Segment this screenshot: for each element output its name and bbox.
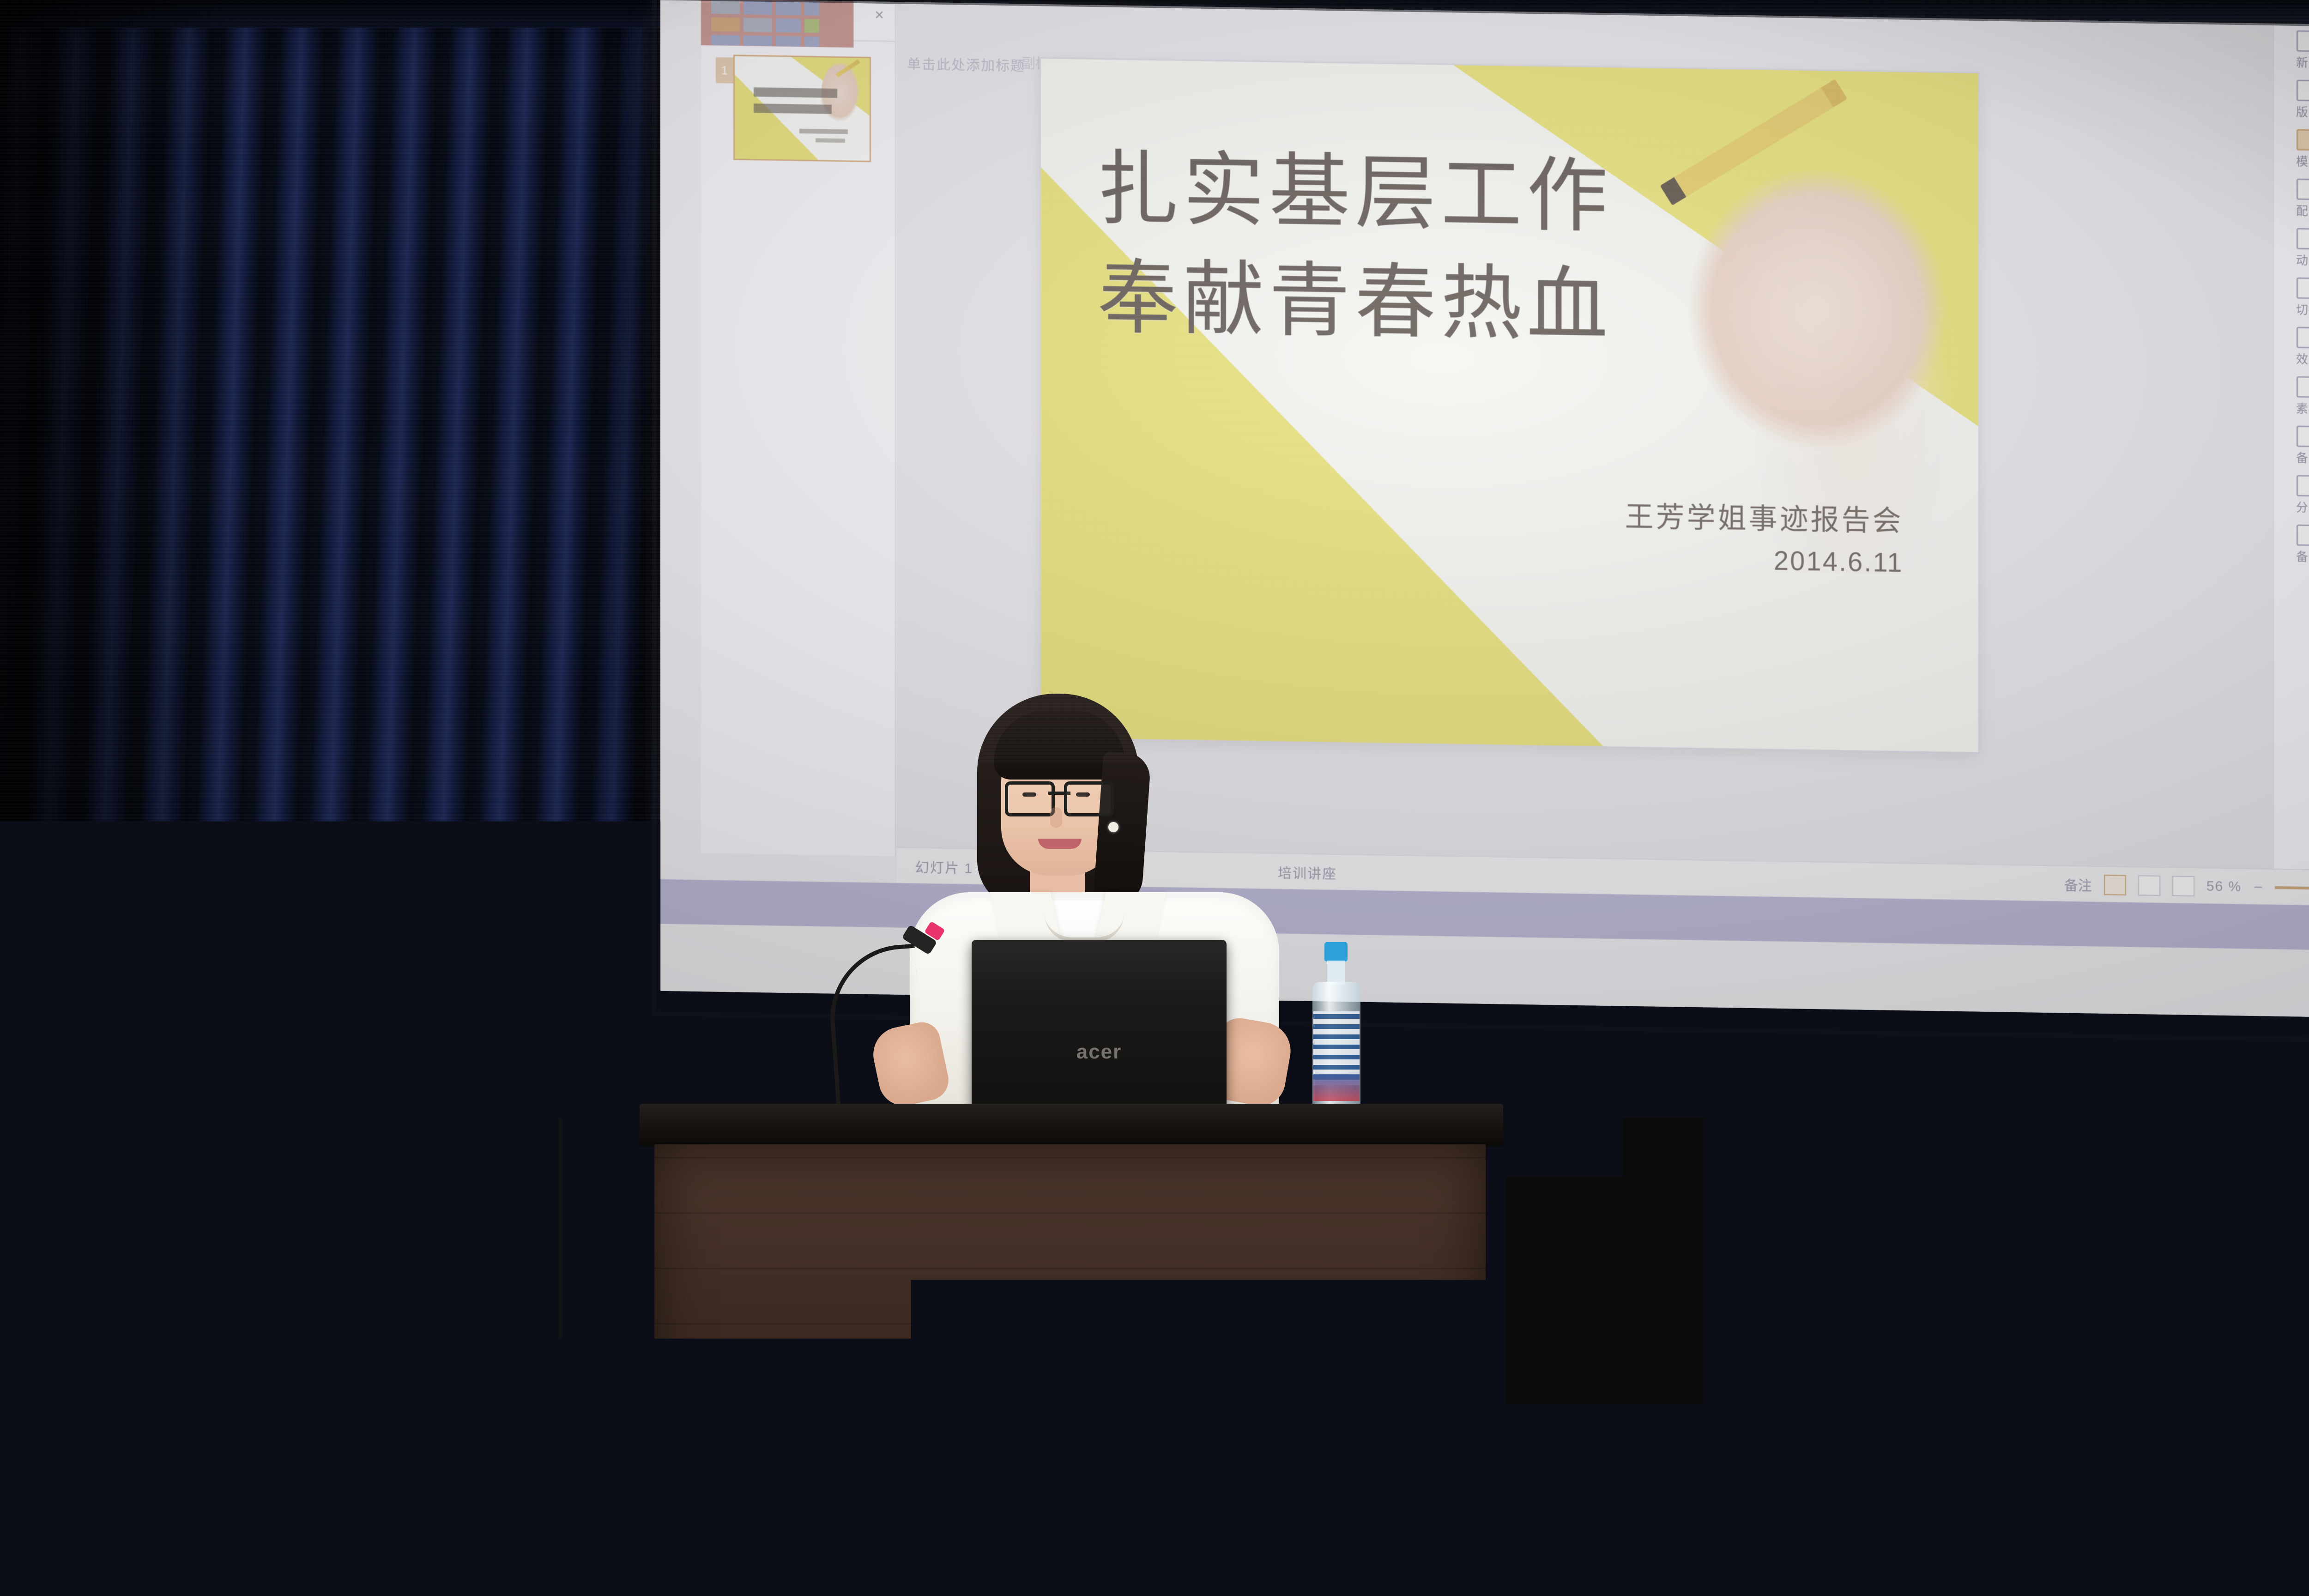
- backup-icon: [2297, 525, 2309, 546]
- rail-item-backup[interactable]: 备份: [2274, 524, 2309, 565]
- rail-label-material: 素材: [2296, 399, 2309, 417]
- status-right-group[interactable]: 备注 56 % − +: [2064, 874, 2309, 903]
- slide-subtitle: 王芳学姐事迹报告会: [1625, 496, 1904, 543]
- rail-label-new: 新建: [2296, 54, 2309, 71]
- pearl-earring: [1108, 822, 1118, 832]
- thumb-subtitle-line: [799, 129, 848, 134]
- rail-item-template[interactable]: 模板: [2274, 129, 2309, 170]
- presenter-side-hair: [1093, 751, 1152, 907]
- start-tile[interactable]: [743, 36, 772, 48]
- slide-title-line-1: 扎实基层工作: [1097, 134, 1885, 256]
- rail-label-colorscheme: 配色: [2296, 202, 2309, 219]
- layout-icon: [2297, 80, 2309, 102]
- view-sorter-button[interactable]: [2138, 875, 2160, 896]
- audience-member-scalp: [231, 1524, 383, 1596]
- share-icon: [2297, 475, 2309, 497]
- close-panel-icon[interactable]: ×: [875, 6, 884, 24]
- canvas-placeholder-hint: 单击此处添加标题: [907, 53, 1025, 75]
- rail-item-share[interactable]: 分享: [2274, 475, 2309, 516]
- start-tile[interactable]: [804, 19, 819, 33]
- color-scheme-icon: [2297, 179, 2309, 200]
- template-icon: [2297, 129, 2309, 151]
- rail-item-transition[interactable]: 切换: [2274, 277, 2309, 318]
- start-menu-panel[interactable]: 开始: [701, 0, 853, 48]
- lens-left: [1005, 781, 1055, 816]
- task-pane[interactable]: 新建 版式 模板 配色: [2273, 24, 2309, 875]
- new-slide-icon: [2297, 30, 2309, 52]
- slide-subtitle-block: 王芳学姐事迹报告会 2014.6.11: [1625, 496, 1904, 583]
- laptop-brand-logo: acer: [972, 1040, 1227, 1064]
- start-tile[interactable]: [743, 0, 772, 15]
- rail-label-animation: 动画: [2296, 251, 2309, 269]
- loudspeaker: [1681, 1335, 1903, 1596]
- view-slideshow-button[interactable]: [2172, 876, 2194, 896]
- bottled-water: [1311, 942, 1361, 1121]
- rail-label-effects: 效果: [2296, 350, 2309, 368]
- material-icon: [2297, 376, 2309, 398]
- transition-icon: [2297, 278, 2309, 299]
- thumb-title-line-2: [754, 103, 832, 114]
- presenter-mouth: [1038, 839, 1082, 849]
- start-tile[interactable]: [711, 18, 740, 32]
- effects-icon: [2297, 327, 2309, 349]
- thumb-title-line-1: [754, 87, 837, 98]
- bottle-label-lower: [1313, 1074, 1360, 1101]
- rail-item-effects[interactable]: 效果: [2274, 326, 2309, 368]
- rail-label-backup: 备份: [2296, 548, 2309, 565]
- zoom-out-button[interactable]: −: [2254, 878, 2263, 896]
- animation-icon: [2297, 228, 2309, 250]
- zoom-level-label: 56 %: [2206, 879, 2242, 895]
- rail-item-material[interactable]: 素材: [2274, 376, 2309, 417]
- speaker-corner-top-right: [1880, 1330, 1907, 1351]
- speaker-corner-top-left: [1675, 1330, 1702, 1351]
- slide-thumbnail-list[interactable]: 1: [717, 54, 869, 162]
- rail-item-notes[interactable]: 备注: [2274, 425, 2309, 466]
- gooseneck-microphone: [813, 914, 961, 1131]
- rail-item-layout[interactable]: 版式: [2274, 79, 2309, 121]
- start-menu-tiles[interactable]: [711, 0, 819, 48]
- slide-title: 扎实基层工作 奉献青春热血: [1097, 134, 1885, 364]
- status-notes-label[interactable]: 备注: [2064, 874, 2092, 895]
- rail-label-transition: 切换: [2296, 301, 2309, 318]
- auditorium-photo: 大纲 幻灯片 × 1: [0, 0, 2309, 1596]
- speaker-label: [1865, 1362, 1898, 1387]
- zoom-slider[interactable]: [2275, 886, 2309, 894]
- slide-thumbnail[interactable]: [733, 54, 871, 162]
- rail-item-colorscheme[interactable]: 配色: [2274, 178, 2309, 219]
- rail-item-animation[interactable]: 动画: [2274, 228, 2309, 269]
- notes-icon: [2297, 426, 2309, 447]
- start-tile[interactable]: [776, 1, 801, 15]
- bottle-neck: [1327, 961, 1345, 985]
- start-tile[interactable]: [804, 1, 819, 16]
- slide-title-line-2: 奉献青春热血: [1097, 243, 1885, 364]
- rail-label-template: 模板: [2296, 152, 2309, 170]
- speaker-driver-lower: [1805, 1450, 1818, 1463]
- view-normal-button[interactable]: [2104, 875, 2126, 895]
- start-tile[interactable]: [711, 0, 740, 14]
- zoom-slider-fill: [2275, 886, 2309, 891]
- laptop-lid: acer: [972, 940, 1227, 1112]
- presenter-nose: [1050, 807, 1062, 828]
- lens-right: [1064, 781, 1114, 816]
- start-tile[interactable]: [776, 18, 801, 33]
- rail-label-share: 分享: [2296, 498, 2309, 516]
- laptop: acer: [965, 940, 1233, 1120]
- bottle-cap: [1324, 942, 1348, 961]
- speaker-top: [1673, 1315, 1911, 1339]
- task-pane-rail[interactable]: 新建 版式 模板 配色: [2274, 24, 2309, 876]
- thumb-date-line: [816, 139, 845, 143]
- slide-navigator-panel[interactable]: 大纲 幻灯片 × 1: [701, 0, 896, 856]
- slide-date: 2014.6.11: [1625, 538, 1904, 583]
- start-tile[interactable]: [804, 36, 819, 48]
- eyeglasses-icon: [1005, 781, 1114, 810]
- microphone-stem: [826, 944, 926, 1116]
- rail-item-new[interactable]: 新建: [2274, 30, 2309, 71]
- slide-number-badge: 1: [716, 57, 733, 84]
- current-slide[interactable]: 扎实基层工作 奉献青春热血 王芳学姐事迹报告会 2014.6.11: [1041, 59, 1978, 752]
- start-tile[interactable]: [743, 18, 772, 32]
- rail-label-layout: 版式: [2296, 103, 2309, 121]
- start-tile[interactable]: [776, 36, 801, 48]
- rail-label-notes: 备注: [2296, 449, 2309, 466]
- speaker-driver-upper: [1736, 1422, 1749, 1435]
